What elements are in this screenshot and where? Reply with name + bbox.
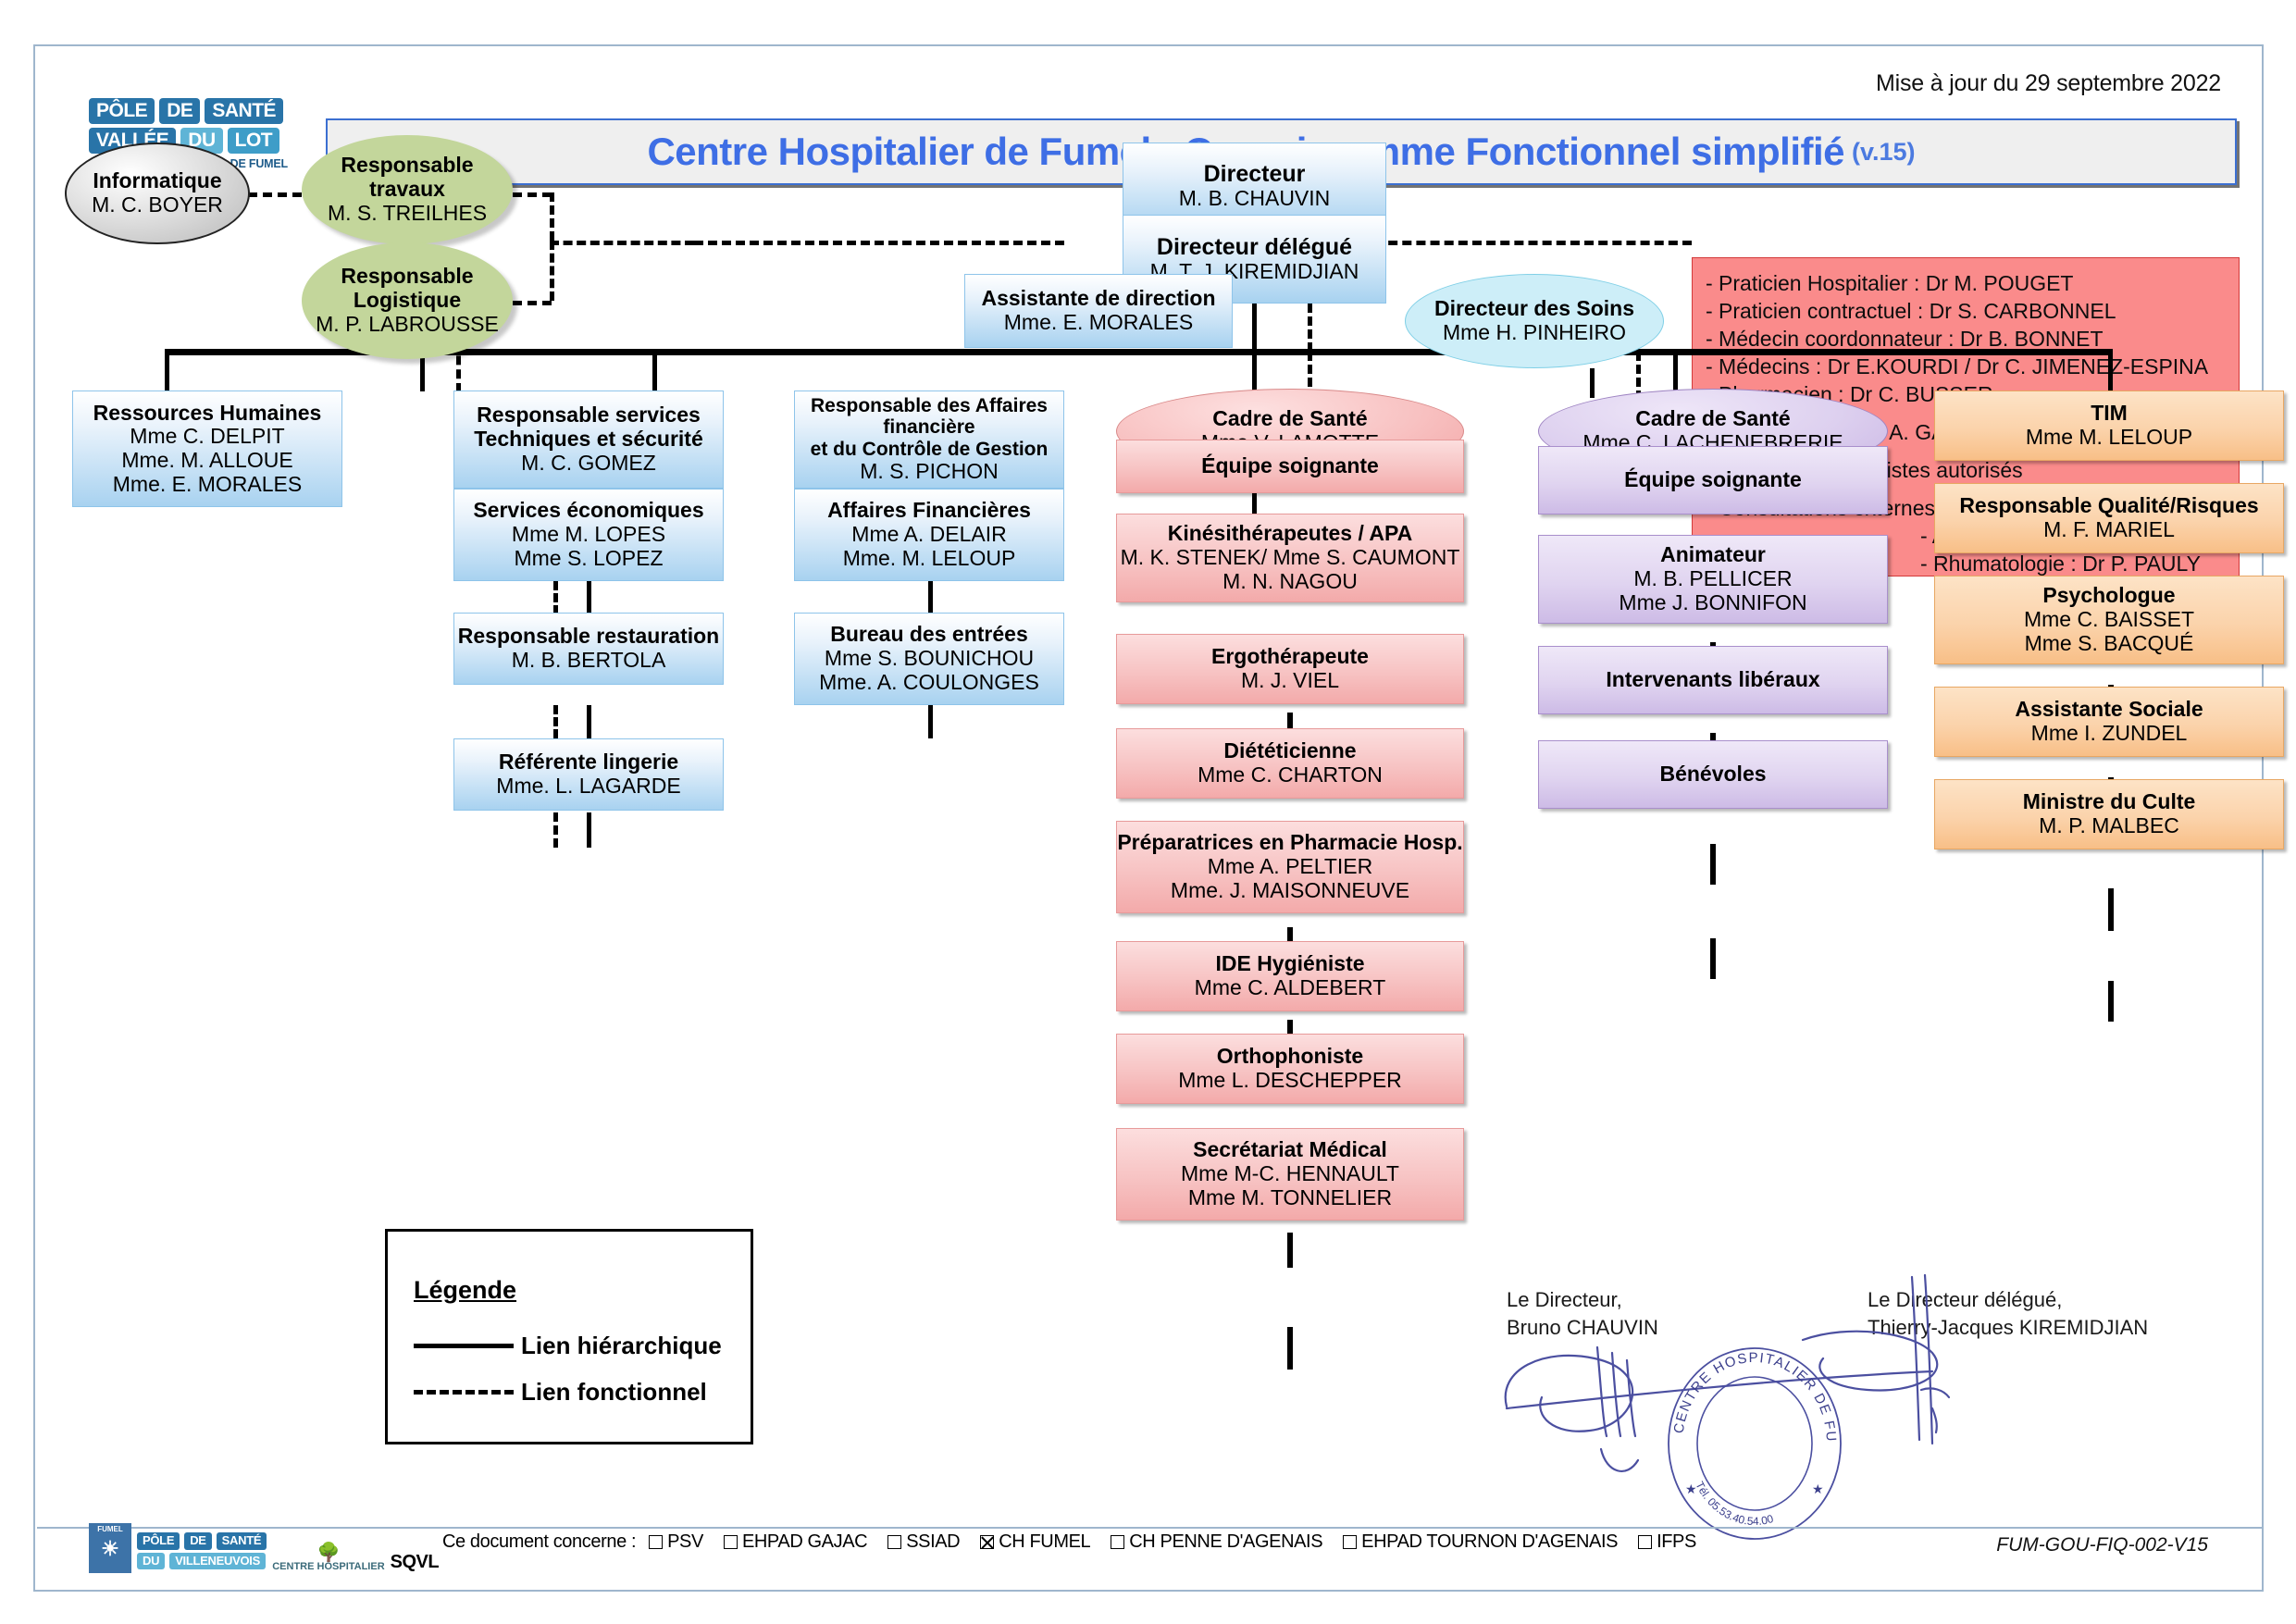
node-name: Mme. E. MORALES — [1004, 311, 1193, 335]
node-name: Mme C. DELPIT — [130, 425, 284, 449]
checkbox-icon[interactable] — [1111, 1535, 1124, 1549]
node-orthophoniste[interactable]: Orthophoniste Mme L. DESCHEPPER — [1116, 1034, 1464, 1104]
node-name: Mme. L. LAGARDE — [496, 775, 680, 799]
logo-chip-pole: PÔLE — [89, 98, 155, 124]
node-name: Mme S. BACQUÉ — [2025, 632, 2194, 656]
signature-ink: CENTRE HOSPITALIER DE FUMEL Tél. 05.53.4… — [1497, 1268, 2296, 1545]
node-title: Responsable travaux — [303, 154, 512, 202]
stamp-star-right: ★ — [1812, 1481, 1824, 1496]
connector-sociale-culte — [2108, 981, 2114, 1022]
node-responsable-travaux[interactable]: Responsable travaux M. S. TREILHES — [302, 135, 513, 244]
node-name: M. C. BOYER — [92, 193, 223, 217]
checkbox-item-ssiad[interactable]: SSIAD — [887, 1531, 960, 1553]
logo-chip-lot: LOT — [228, 128, 280, 154]
f-chip-de: DE — [184, 1532, 211, 1549]
legend-title: Légende — [414, 1276, 516, 1305]
node-name: M. P. MALBEC — [2039, 814, 2179, 838]
legend-label: Lien hiérarchique — [521, 1332, 722, 1360]
node-title: Cadre de Santé — [1635, 407, 1790, 431]
checkbox-label: PSV — [667, 1531, 703, 1553]
node-title: Psychologue — [2042, 584, 2175, 608]
node-name: M. C. GOMEZ — [521, 452, 656, 476]
node-ressources-humaines[interactable]: Ressources Humaines Mme C. DELPIT Mme. M… — [72, 391, 342, 507]
dashed-travaux-right — [513, 192, 552, 197]
node-name: M. J. VIEL — [1241, 669, 1339, 693]
node-title-l1: Responsable des Affaires financière — [795, 395, 1063, 439]
update-date: Mise à jour du 29 septembre 2022 — [1876, 70, 2221, 97]
node-name: Mme C. BAISSET — [2024, 608, 2194, 632]
node-name: Mme C. CHARTON — [1198, 763, 1383, 787]
checkbox-item-ch-fumel[interactable]: CH FUMEL — [980, 1531, 1090, 1553]
f-chip-villeneuvois: VILLENEUVOIS — [169, 1553, 266, 1569]
node-psychologue[interactable]: Psychologue Mme C. BAISSET Mme S. BACQUÉ — [1934, 576, 2284, 664]
node-title: TIM — [2091, 402, 2128, 426]
node-name: M. N. NAGOU — [1222, 570, 1358, 594]
node-name: Mme. M. LELOUP — [843, 547, 1016, 571]
connector-liberaux-benevoles — [1710, 938, 1716, 979]
logo-line-1: PÔLE DE SANTÉ — [89, 98, 302, 124]
checkbox-label: EHPAD GAJAC — [742, 1531, 867, 1553]
node-name: Mme. M. ALLOUE — [121, 449, 292, 473]
node-title: Responsable Qualité/Risques — [1959, 494, 2258, 518]
node-benevoles[interactable]: Bénévoles — [1538, 740, 1888, 809]
dashed-line-sample — [414, 1390, 514, 1395]
connector-drop-rh — [165, 349, 169, 391]
node-secretariat-medical[interactable]: Secrétariat Médical Mme M-C. HENNAULT Mm… — [1116, 1128, 1464, 1221]
node-tim[interactable]: TIM Mme M. LELOUP — [1934, 391, 2284, 461]
node-responsable-affaires-financieres[interactable]: Responsable des Affaires financière et d… — [794, 391, 1064, 489]
node-title-l1: Responsable services — [477, 403, 701, 428]
node-name: Mme A. DELAIR — [851, 523, 1006, 547]
node-title-l2: Techniques et sécurité — [474, 428, 703, 452]
node-name: M. B. BERTOLA — [512, 649, 666, 673]
node-title: Préparatrices en Pharmacie Hosp. — [1117, 831, 1462, 855]
node-title: Assistante Sociale — [2015, 698, 2203, 722]
checkbox-icon[interactable] — [1638, 1535, 1652, 1549]
node-responsable-qualite-risques[interactable]: Responsable Qualité/Risques M. F. MARIEL — [1934, 483, 2284, 553]
node-title: Directeur des Soins — [1434, 297, 1634, 321]
checkbox-icon[interactable] — [649, 1535, 663, 1549]
node-name: Mme S. BOUNICHOU — [825, 647, 1034, 671]
node-title: Kinésithérapeutes / APA — [1168, 522, 1413, 546]
node-title: Intervenants libéraux — [1606, 668, 1819, 692]
checkbox-item-psv[interactable]: PSV — [649, 1531, 703, 1553]
signature-area: Le Directeur, Bruno CHAUVIN Le Directeur… — [1497, 1268, 2296, 1545]
dashed-tech-eco — [553, 581, 558, 614]
dashed-travaux-down — [550, 192, 554, 241]
dashed-logistique-right — [513, 301, 552, 305]
dashed-delegue-left — [694, 241, 1064, 245]
node-name: Mme. J. MAISONNEUVE — [1171, 879, 1409, 903]
dashed-eco-resto — [553, 705, 558, 738]
checkbox-label: SSIAD — [906, 1531, 960, 1553]
connector-soins-down — [1590, 368, 1595, 398]
node-name: Mme I. ZUNDEL — [2031, 722, 2188, 746]
node-name: Mme A. PELTIER — [1208, 855, 1373, 879]
node-ide-hygieniste[interactable]: IDE Hygiéniste Mme C. ALDEBERT — [1116, 941, 1464, 1011]
connector-tech-eco — [587, 581, 591, 614]
legend-row-hierarchical: Lien hiérarchique — [414, 1332, 722, 1360]
connector-drop-lachen — [1673, 349, 1678, 391]
fumel-badge: FUMEL ☀ — [89, 1523, 131, 1573]
node-name: Mme M-C. HENNAULT — [1181, 1162, 1399, 1186]
node-name: Mme M. LELOUP — [2026, 426, 2192, 450]
node-title: Bénévoles — [1659, 762, 1766, 787]
node-title: Responsable Logistique — [303, 265, 512, 313]
node-dieteticienne[interactable]: Diététicienne Mme C. CHARTON — [1116, 728, 1464, 799]
node-intervenants-liberaux[interactable]: Intervenants libéraux — [1538, 646, 1888, 714]
node-title: Équipe soignante — [1201, 454, 1379, 478]
node-equipe-soignante-pink[interactable]: Équipe soignante — [1116, 440, 1464, 493]
legend-box: Légende Lien hiérarchique Lien fonctionn… — [385, 1229, 753, 1444]
document-scope: Ce document concerne : PSV EHPAD GAJAC S… — [442, 1531, 1717, 1553]
node-bureau-des-entrees[interactable]: Bureau des entrées Mme S. BOUNICHOU Mme.… — [794, 613, 1064, 705]
checkbox-item-ifps[interactable]: IFPS — [1638, 1531, 1696, 1553]
checkbox-label: EHPAD TOURNON D'AGENAIS — [1361, 1531, 1618, 1553]
dashed-vertical-join — [550, 241, 554, 301]
node-preparatrices-pharmacie[interactable]: Préparatrices en Pharmacie Hosp. Mme A. … — [1116, 821, 1464, 913]
runner-icon: ☀ — [101, 1539, 119, 1559]
node-name: Mme M. LOPES — [512, 523, 665, 547]
checkbox-icon[interactable] — [1343, 1535, 1357, 1549]
node-kinesitherapeutes[interactable]: Kinésithérapeutes / APA M. K. STENEK/ Mm… — [1116, 514, 1464, 602]
ch-logo-text: CENTRE HOSPITALIER — [272, 1562, 384, 1573]
node-name: Mme J. BONNIFON — [1619, 591, 1806, 615]
checkbox-icon[interactable] — [724, 1535, 738, 1549]
node-title: Ministre du Culte — [2023, 790, 2196, 814]
node-informatique[interactable]: Informatique M. C. BOYER — [65, 143, 250, 244]
node-responsable-restauration[interactable]: Responsable restauration M. B. BERTOLA — [453, 613, 724, 685]
node-title: Bureau des entrées — [830, 623, 1027, 647]
node-services-techniques[interactable]: Responsable services Techniques et sécur… — [453, 391, 724, 489]
sqvl-logo: SQVL — [391, 1552, 439, 1573]
fumel-badge-text: FUMEL — [97, 1526, 123, 1533]
connector-animateur-liberaux — [1710, 844, 1716, 885]
checkbox-label: CH PENNE D'AGENAIS — [1129, 1531, 1322, 1553]
footer-logos: FUMEL ☀ PÔLE DE SANTÉ DU VILLENEUVOIS 🌳 … — [89, 1523, 439, 1573]
connector-drop-lamotte — [1252, 349, 1257, 391]
dashed-resto-lingerie — [553, 812, 558, 848]
organigramme-page: Mise à jour du 29 septembre 2022 PÔLE DE… — [33, 44, 2264, 1592]
node-title: Informatique — [93, 169, 221, 193]
node-name: M. F. MARIEL — [2043, 518, 2175, 542]
node-name: Mme M. TONNELIER — [1188, 1186, 1392, 1210]
node-title: Secrétariat Médical — [1193, 1138, 1387, 1162]
legend-row-functional: Lien fonctionnel — [414, 1378, 707, 1407]
node-title: Directeur délégué — [1157, 234, 1352, 260]
f-chip-pole: PÔLE — [137, 1532, 180, 1549]
node-title: Ressources Humaines — [93, 402, 322, 426]
node-name: M. K. STENEK/ Mme S. CAUMONT — [1121, 546, 1460, 570]
connector-drop-tim — [2108, 349, 2113, 391]
node-name: Mme. E. MORALES — [113, 473, 302, 497]
solid-line-sample — [414, 1344, 514, 1348]
node-title: Services économiques — [473, 499, 703, 523]
f-chip-sante: SANTÉ — [217, 1532, 267, 1549]
centre-hospitalier-logo: 🌳 CENTRE HOSPITALIER — [272, 1543, 384, 1573]
node-ministre-du-culte[interactable]: Ministre du Culte M. P. MALBEC — [1934, 779, 2284, 849]
node-title: Assistante de direction — [981, 287, 1215, 311]
node-affaires-financieres[interactable]: Affaires Financières Mme A. DELAIR Mme. … — [794, 489, 1064, 581]
node-assistante-direction[interactable]: Assistante de direction Mme. E. MORALES — [964, 274, 1233, 348]
node-title-l2: et du Contrôle de Gestion — [811, 439, 1049, 461]
page-title-version: (v.15) — [1852, 138, 1916, 167]
node-assistante-sociale[interactable]: Assistante Sociale Mme I. ZUNDEL — [1934, 687, 2284, 757]
document-code: FUM-GOU-FIQ-002-V15 — [1996, 1534, 2208, 1556]
node-name: M. S. TREILHES — [328, 202, 487, 226]
pole-sante-villeneuvois-logo: PÔLE DE SANTÉ DU VILLENEUVOIS — [137, 1532, 267, 1573]
connector-affaires-bureau — [928, 705, 933, 738]
dashed-to-delegue — [550, 241, 694, 245]
stamp-star-left: ★ — [1685, 1481, 1697, 1496]
node-title: Diététicienne — [1223, 739, 1356, 763]
dashed-delegue-soins — [1308, 304, 1312, 352]
node-name: M. S. PICHON — [860, 460, 999, 484]
node-title: Référente lingerie — [499, 750, 678, 775]
checkbox-label: CH FUMEL — [999, 1531, 1090, 1553]
f-chip-du: DU — [137, 1553, 165, 1569]
checkbox-label: IFPS — [1657, 1531, 1696, 1553]
legend-label: Lien fonctionnel — [521, 1378, 707, 1407]
node-title: Responsable restauration — [458, 625, 719, 649]
checkbox-item-ehpad-tournon[interactable]: EHPAD TOURNON D'AGENAIS — [1343, 1531, 1618, 1553]
node-title: IDE Hygiéniste — [1215, 952, 1364, 976]
node-name: Mme L. DESCHEPPER — [1178, 1069, 1402, 1093]
connector-psycho-sociale — [2108, 888, 2114, 931]
node-name: Mme S. LOPEZ — [514, 547, 663, 571]
node-title: Affaires Financières — [827, 499, 1031, 523]
node-referente-lingerie[interactable]: Référente lingerie Mme. L. LAGARDE — [453, 738, 724, 811]
node-name: M. B. PELLICER — [1633, 567, 1792, 591]
node-directeur-des-soins[interactable]: Directeur des Soins Mme H. PINHEIRO — [1405, 274, 1664, 368]
node-title: Directeur — [1204, 161, 1306, 187]
connector-drop-fin — [652, 349, 657, 391]
medical-line: - Praticien Hospitalier : Dr M. POUGET — [1706, 269, 2226, 297]
logo-chip-de: DE — [159, 98, 200, 124]
node-name: Mme C. ALDEBERT — [1195, 976, 1386, 1000]
connector-ide-ortho — [1287, 1233, 1293, 1268]
node-title: Animateur — [1660, 543, 1766, 567]
medical-line: - Praticien contractuel : Dr S. CARBONNE… — [1706, 297, 2226, 325]
node-services-economiques[interactable]: Services économiques Mme M. LOPES Mme S.… — [453, 489, 724, 581]
connector-fin-affaires — [928, 581, 933, 614]
checkbox-item-ehpad-gajac[interactable]: EHPAD GAJAC — [724, 1531, 867, 1553]
tree-icon: 🌳 — [272, 1543, 384, 1562]
medical-line: - Médecins : Dr E.KOURDI / Dr C. JIMENEZ… — [1706, 353, 2226, 380]
logo-chip-sante: SANTÉ — [205, 98, 283, 124]
node-animateur[interactable]: Animateur M. B. PELLICER Mme J. BONNIFON — [1538, 535, 1888, 624]
node-name: M. B. CHAUVIN — [1179, 187, 1331, 211]
node-name: Mme H. PINHEIRO — [1443, 321, 1626, 345]
node-name: M. P. LABROUSSE — [316, 313, 499, 337]
node-title: Ergothérapeute — [1211, 645, 1369, 669]
node-ergotherapeute[interactable]: Ergothérapeute M. J. VIEL — [1116, 634, 1464, 704]
node-title: Cadre de Santé — [1212, 407, 1367, 431]
node-equipe-soignante-purple[interactable]: Équipe soignante — [1538, 446, 1888, 514]
node-name: Mme. A. COULONGES — [819, 671, 1039, 695]
node-title: Orthophoniste — [1217, 1045, 1363, 1069]
connector-ortho-secretariat — [1287, 1327, 1293, 1370]
checkbox-icon[interactable] — [887, 1535, 901, 1549]
document-scope-label: Ce document concerne : — [442, 1531, 636, 1553]
connector-resto-lingerie — [587, 812, 591, 848]
node-title: Équipe soignante — [1624, 468, 1802, 492]
checkbox-item-ch-penne[interactable]: CH PENNE D'AGENAIS — [1111, 1531, 1322, 1553]
checkbox-icon-checked[interactable] — [980, 1535, 994, 1549]
connector-eco-resto — [587, 705, 591, 738]
node-responsable-logistique[interactable]: Responsable Logistique M. P. LABROUSSE — [302, 242, 513, 359]
